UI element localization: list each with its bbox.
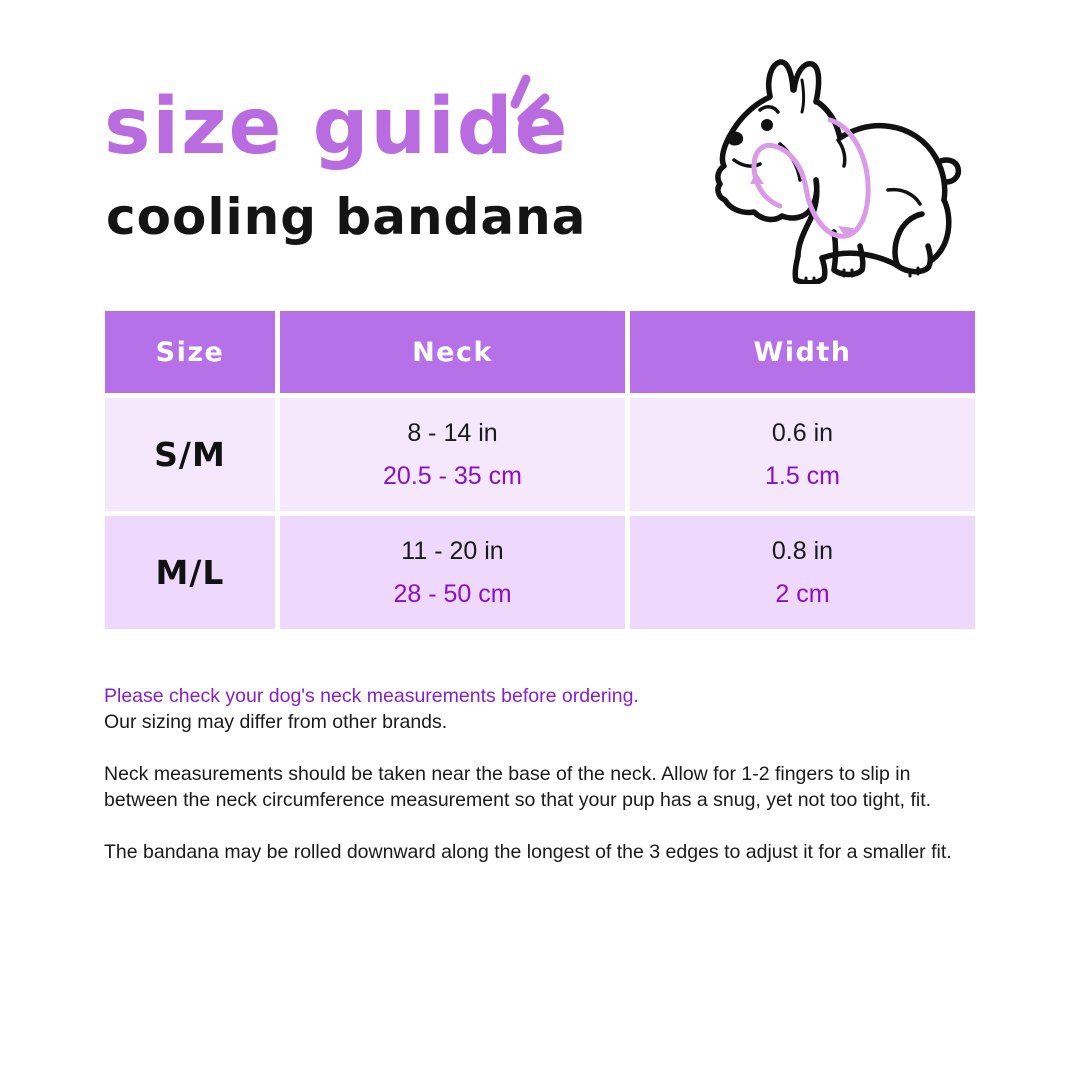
width-inches-value: 0.6 in xyxy=(772,421,833,446)
column-header-size: Size xyxy=(156,337,225,368)
cell-width-sm: 0.6 in 1.5 cm xyxy=(630,398,975,511)
table-row: M/L 11 - 20 in 28 - 50 cm 0.8 in 2 cm xyxy=(105,516,975,629)
neck-cm-value: 20.5 - 35 cm xyxy=(383,464,522,489)
size-chart-table: Size Neck Width S/M 8 - 14 in 20.5 - 35 … xyxy=(105,311,975,629)
note-sizing-line: Our sizing may differ from other brands. xyxy=(104,709,976,735)
table-header-cell-neck: Neck xyxy=(280,311,625,393)
header-section: size guide cooling bandana xyxy=(0,0,1080,290)
note-spacer-2 xyxy=(104,813,976,839)
column-header-width: Width xyxy=(754,337,852,368)
table-row: S/M 8 - 14 in 20.5 - 35 cm 0.6 in 1.5 cm xyxy=(105,398,975,511)
note-spacer-1 xyxy=(104,735,976,761)
french-bulldog-illustration xyxy=(706,48,972,284)
neck-inches-value: 8 - 14 in xyxy=(407,421,497,446)
column-header-neck: Neck xyxy=(412,337,493,368)
note-rolling-paragraph: The bandana may be rolled downward along… xyxy=(104,839,976,865)
neck-cm-value: 28 - 50 cm xyxy=(393,582,511,607)
size-label: M/L xyxy=(156,553,225,592)
cell-size-sm: S/M xyxy=(105,398,275,511)
width-cm-value: 1.5 cm xyxy=(765,464,840,489)
cell-neck-sm: 8 - 14 in 20.5 - 35 cm xyxy=(280,398,625,511)
note-highlight-line: Please check your dog's neck measurement… xyxy=(104,683,976,709)
width-cm-value: 2 cm xyxy=(775,582,829,607)
cell-neck-ml: 11 - 20 in 28 - 50 cm xyxy=(280,516,625,629)
size-guide-page: size guide cooling bandana xyxy=(0,0,1080,1080)
notes-section: Please check your dog's neck measurement… xyxy=(104,683,976,865)
sparkle-lines-icon xyxy=(492,72,572,156)
note-neck-measurement-paragraph: Neck measurements should be taken near t… xyxy=(104,761,976,813)
table-header-cell-size: Size xyxy=(105,311,275,393)
neck-inches-value: 11 - 20 in xyxy=(401,539,503,564)
cell-size-ml: M/L xyxy=(105,516,275,629)
size-label: S/M xyxy=(154,435,226,474)
table-header-row: Size Neck Width xyxy=(105,311,975,393)
page-subtitle: cooling bandana xyxy=(106,192,586,242)
table-header-cell-width: Width xyxy=(630,311,975,393)
cell-width-ml: 0.8 in 2 cm xyxy=(630,516,975,629)
width-inches-value: 0.8 in xyxy=(772,539,833,564)
